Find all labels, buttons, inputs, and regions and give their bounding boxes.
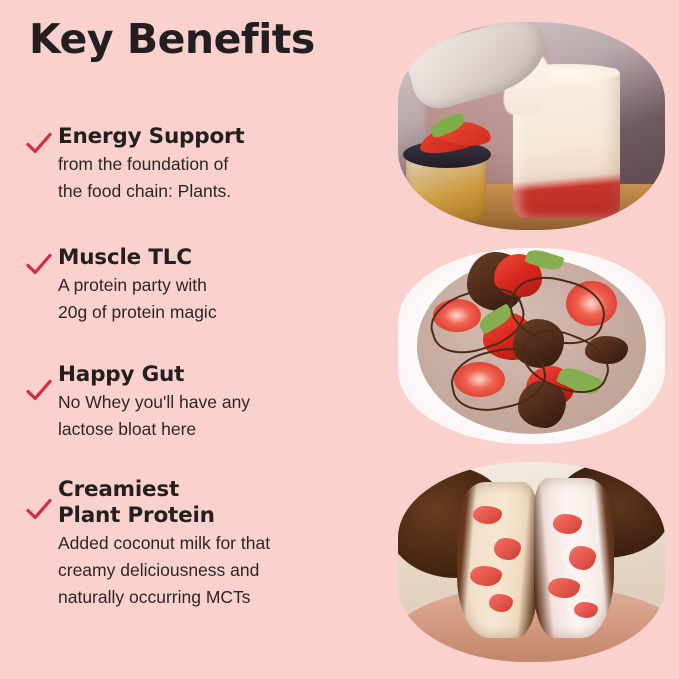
photo-column — [398, 0, 679, 679]
benefit-description: A protein party with 20g of protein magi… — [58, 272, 374, 325]
benefit-item-happy-gut: Happy Gut No Whey you'll have any lactos… — [24, 362, 374, 442]
benefit-heading: Creamiest Plant Protein — [58, 477, 374, 529]
checkmark-icon — [24, 495, 54, 525]
benefit-description: Added coconut milk for that creamy delic… — [58, 530, 374, 610]
checkmark-icon — [24, 129, 54, 159]
photo-chocolate-covered-strawberry-halves — [398, 462, 665, 662]
benefit-description: No Whey you'll have any lactose bloat he… — [58, 389, 374, 442]
checkmark-icon — [24, 376, 54, 406]
benefit-item-creamiest-plant-protein: Creamiest Plant Protein Added coconut mi… — [24, 477, 374, 610]
benefit-heading: Muscle TLC — [58, 245, 374, 271]
photo-chocolate-drizzle-strawberry-bowl — [398, 248, 665, 444]
page-title: Key Benefits — [29, 18, 315, 61]
benefit-heading: Happy Gut — [58, 362, 374, 388]
benefit-item-muscle-tlc: Muscle TLC A protein party with 20g of p… — [24, 245, 374, 325]
benefit-heading: Energy Support — [58, 124, 374, 150]
checkmark-icon — [24, 250, 54, 280]
benefit-item-energy-support: Energy Support from the foundation of th… — [24, 124, 374, 204]
benefit-description: from the foundation of the food chain: P… — [58, 151, 374, 204]
benefits-column: Key Benefits Energy Support from the fou… — [0, 0, 380, 679]
key-benefits-poster: Key Benefits Energy Support from the fou… — [0, 0, 679, 679]
photo-pouring-plant-milk-smoothie — [398, 22, 665, 230]
